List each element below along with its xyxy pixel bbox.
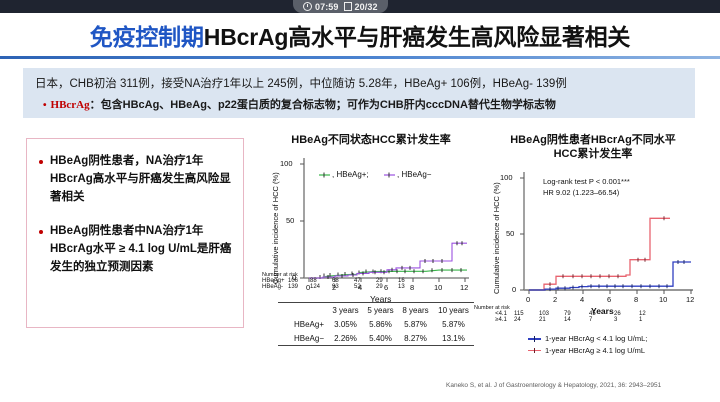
study-summary-line1: 日本，CHB初治 311例，接受NA治疗1年以上 245例，中位随访 5.28年… <box>35 75 567 91</box>
title-divider <box>0 56 720 59</box>
bullet-icon: • <box>43 101 47 111</box>
key-findings-box: HBeAg阴性患者，NA治疗1年HBcrAg高水平与肝癌发生高风险显著相关 HB… <box>26 138 244 328</box>
x-tick-10: 10 <box>434 283 442 292</box>
key-finding-item: HBeAg阴性患者中NA治疗1年HBcrAg水平 ≥ 4.1 log U/mL是… <box>39 223 237 276</box>
term-definition: ：包含HBcAg、HBeAg、p22蛋白质的复合标志物；可作为CHB肝内cccD… <box>90 96 556 112</box>
table-row: ≥4.1 24 21 14 7 3 1 <box>488 317 664 323</box>
title-rest: HBcrAg高水平与肝癌发生高风险显著相关 <box>204 24 630 50</box>
cell-value: 5.40% <box>363 331 398 346</box>
key-finding-item: HBeAg阴性患者，NA治疗1年HBcrAg高水平与肝癌发生高风险显著相关 <box>39 153 235 206</box>
table-row: HBeAg+ 3.05% 5.86% 5.87% 5.87% <box>278 317 474 331</box>
y-tick-100: 100 <box>280 159 293 168</box>
chart-legend-right: 1-year HBcrAg < 4.1 log U/mL; 1-year HBc… <box>528 333 647 356</box>
risk-value: 93 <box>332 284 354 290</box>
chart-plot-area <box>478 134 708 364</box>
status-time: 07:59 <box>315 2 339 12</box>
title-bar: 免疫控制期HBcrAg高水平与肝癌发生高风险显著相关 <box>0 14 720 56</box>
key-finding-text: HBeAg阴性患者，NA治疗1年HBcrAg高水平与肝癌发生高风险显著相关 <box>50 153 235 206</box>
cell-value: 2.26% <box>328 331 363 346</box>
col-header: 5 years <box>363 303 398 318</box>
legend-item-low-hbcrag: 1-year HBcrAg < 4.1 log U/mL; <box>528 333 647 345</box>
col-header: 3 years <box>328 303 363 318</box>
incidence-summary-table: 3 years 5 years 8 years 10 years HBeAg+ … <box>278 302 474 346</box>
risk-value: 24 <box>514 317 539 323</box>
number-at-risk-right: Number at risk <4.1 115 103 79 45 26 12 … <box>474 305 664 323</box>
x-tick-4: 4 <box>580 295 584 304</box>
risk-row-label: HBeAg- <box>262 284 288 290</box>
chart-annotation-logrank: Log-rank test P < 0.001*** <box>543 177 630 188</box>
row-label: HBeAg− <box>278 331 328 346</box>
row-label: HBeAg+ <box>278 317 328 331</box>
x-tick-12: 12 <box>686 295 694 304</box>
risk-value: 52 <box>354 284 376 290</box>
x-tick-10: 10 <box>659 295 667 304</box>
col-header: 10 years <box>433 303 474 318</box>
clock-icon <box>303 2 312 11</box>
status-page-counter: 20/32 <box>355 2 378 12</box>
risk-value: 21 <box>539 317 564 323</box>
risk-value: 7 <box>589 317 614 323</box>
term-hbcrag: HBcrAg <box>51 99 90 111</box>
page-icon <box>344 2 352 11</box>
chart-hbcrag-levels: HBeAg阴性患者HBcrAg不同水平 HCC累计发生率 Cumulative … <box>478 134 708 364</box>
col-header: 8 years <box>398 303 433 318</box>
table-header-row: 3 years 5 years 8 years 10 years <box>278 303 474 318</box>
study-summary-box: 日本，CHB初治 311例，接受NA治疗1年以上 245例，中位随访 5.28年… <box>23 68 695 118</box>
y-tick-50: 50 <box>286 216 294 225</box>
citation: Kaneko S, et al. J of Gastroenterology &… <box>446 382 661 389</box>
page-title: 免疫控制期HBcrAg高水平与肝癌发生高风险显著相关 <box>90 18 630 52</box>
legend-item-high-hbcrag: 1-year HBcrAg ≥ 4.1 log U/mL <box>528 345 647 357</box>
key-finding-text: HBeAg阴性患者中NA治疗1年HBcrAg水平 ≥ 4.1 log U/mL是… <box>50 223 237 276</box>
risk-value: 1 <box>639 317 664 323</box>
status-bar: 07:59 20/32 <box>0 0 720 13</box>
legend-item-hbeag-positive: , HBeAg+; <box>332 170 369 179</box>
number-at-risk-left: Number at risk HBeAg+ 106 88 68 47 29 16… <box>262 272 420 290</box>
cell-value: 5.87% <box>433 317 474 331</box>
y-tick-50: 50 <box>506 229 514 238</box>
chart-annotation-hr: HR 9.02 (1.223–66.54) <box>543 188 619 199</box>
legend-label: 1-year HBcrAg < 4.1 log U/mL; <box>545 333 647 345</box>
slide-root: 07:59 20/32 免疫控制期HBcrAg高水平与肝癌发生高风险显著相关 日… <box>0 0 720 402</box>
legend-label: 1-year HBcrAg ≥ 4.1 log U/mL <box>545 345 645 357</box>
risk-row-label: ≥4.1 <box>488 317 514 323</box>
x-tick-8: 8 <box>634 295 638 304</box>
cell-value: 8.27% <box>398 331 433 346</box>
x-tick-0: 0 <box>526 295 530 304</box>
cell-value: 5.87% <box>398 317 433 331</box>
y-tick-100: 100 <box>500 173 513 182</box>
y-tick-0: 0 <box>512 285 516 294</box>
x-tick-6: 6 <box>607 295 611 304</box>
x-tick-2: 2 <box>553 295 557 304</box>
table-row: HBeAg- 139 124 93 52 29 13 <box>262 284 420 290</box>
bullet-icon <box>39 230 43 234</box>
risk-value: 29 <box>376 284 398 290</box>
cell-value: 3.05% <box>328 317 363 331</box>
cell-value: 5.86% <box>363 317 398 331</box>
study-summary-line2: • HBcrAg ：包含HBcAg、HBeAg、p22蛋白质的复合标志物；可作为… <box>43 96 556 112</box>
x-tick-12: 12 <box>460 283 468 292</box>
bullet-icon <box>39 160 43 164</box>
risk-value: 139 <box>288 284 310 290</box>
risk-value: 13 <box>398 284 420 290</box>
legend-item-hbeag-negative: , HBeAg− <box>397 170 431 179</box>
title-highlight: 免疫控制期 <box>90 24 204 50</box>
risk-value: 3 <box>614 317 639 323</box>
cell-value: 13.1% <box>433 331 474 346</box>
table-row: HBeAg− 2.26% 5.40% 8.27% 13.1% <box>278 331 474 346</box>
legend-marker-icon <box>528 336 541 342</box>
status-pill: 07:59 20/32 <box>293 0 388 13</box>
risk-value: 14 <box>564 317 589 323</box>
col-header <box>278 303 328 318</box>
legend-marker-icon <box>528 347 541 353</box>
risk-value: 124 <box>310 284 332 290</box>
